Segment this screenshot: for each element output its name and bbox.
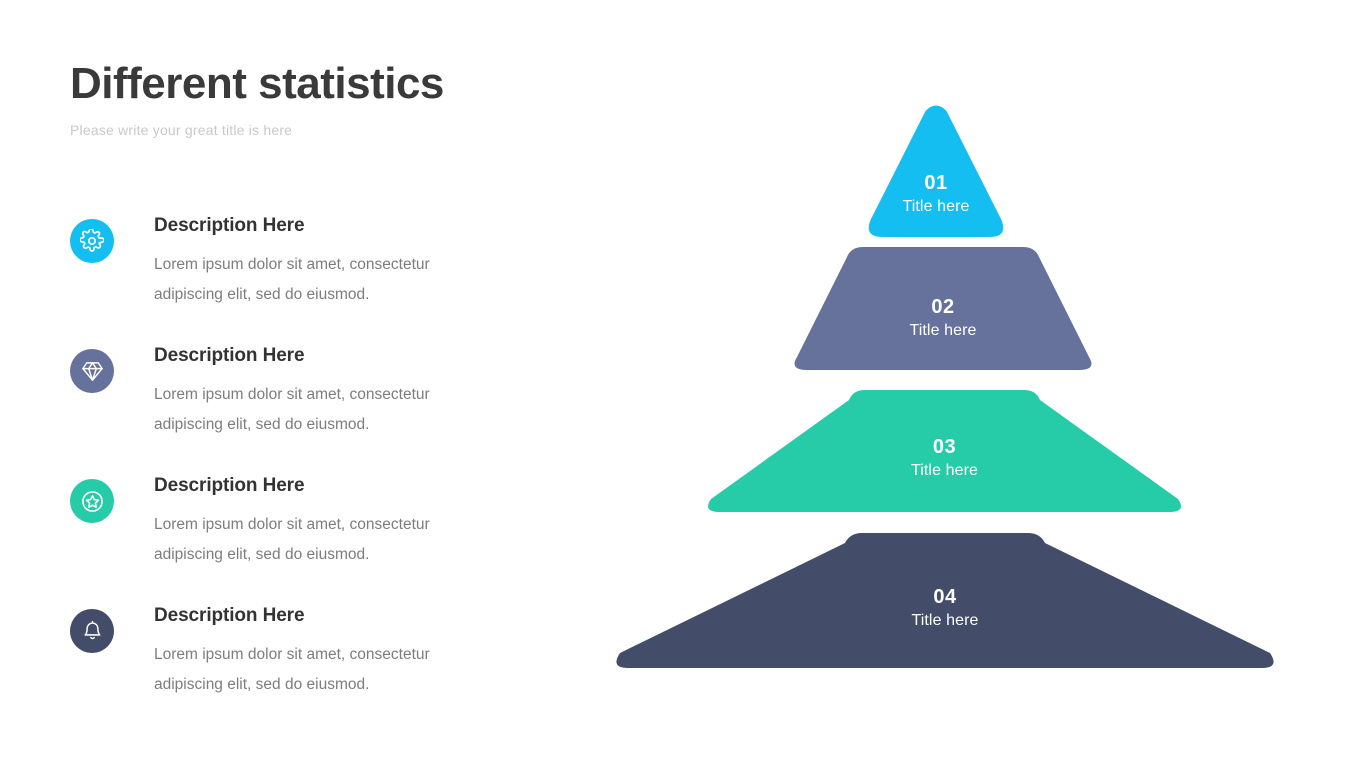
pyramid-tier-3-number: 03 bbox=[697, 435, 1192, 459]
pyramid-tier-3[interactable]: 03 Title here bbox=[697, 390, 1192, 512]
pyramid-tier-3-label: 03 Title here bbox=[697, 435, 1192, 483]
gear-icon-badge[interactable] bbox=[70, 219, 114, 263]
pyramid-tier-4-label: 04 Title here bbox=[604, 585, 1286, 633]
feature-heading: Description Here bbox=[154, 345, 499, 368]
pyramid-tier-4-title: Title here bbox=[604, 609, 1286, 633]
pyramid-tier-2-label: 02 Title here bbox=[783, 295, 1103, 343]
feature-text-3: Description Here Lorem ipsum dolor sit a… bbox=[154, 475, 499, 570]
feature-text-2: Description Here Lorem ipsum dolor sit a… bbox=[154, 345, 499, 440]
pyramid-chart: 01 Title here 02 Title here bbox=[590, 90, 1300, 690]
feature-body: Lorem ipsum dolor sit amet, consectetur … bbox=[154, 640, 499, 700]
star-circle-icon-badge[interactable] bbox=[70, 479, 114, 523]
page-title: Different statistics bbox=[70, 60, 590, 108]
bell-icon bbox=[81, 620, 104, 643]
slide-canvas: Different statistics Please write your g… bbox=[0, 0, 1365, 768]
star-circle-icon bbox=[80, 489, 105, 514]
feature-body: Lorem ipsum dolor sit amet, consectetur … bbox=[154, 380, 499, 440]
feature-body: Lorem ipsum dolor sit amet, consectetur … bbox=[154, 510, 499, 570]
feature-body: Lorem ipsum dolor sit amet, consectetur … bbox=[154, 250, 499, 310]
feature-heading: Description Here bbox=[154, 215, 499, 238]
pyramid-tier-4[interactable]: 04 Title here bbox=[604, 533, 1286, 668]
feature-item-2[interactable]: Description Here Lorem ipsum dolor sit a… bbox=[70, 345, 590, 475]
feature-heading: Description Here bbox=[154, 475, 499, 498]
pyramid-tier-2-number: 02 bbox=[783, 295, 1103, 319]
gear-icon bbox=[80, 229, 104, 253]
pyramid-tier-1[interactable]: 01 Title here bbox=[863, 102, 1009, 237]
diamond-icon bbox=[81, 360, 104, 383]
pyramid-tier-1-label: 01 Title here bbox=[863, 171, 1009, 219]
feature-item-3[interactable]: Description Here Lorem ipsum dolor sit a… bbox=[70, 475, 590, 605]
page-subtitle: Please write your great title is here bbox=[70, 122, 590, 138]
pyramid-tier-1-title: Title here bbox=[863, 195, 1009, 219]
feature-text-4: Description Here Lorem ipsum dolor sit a… bbox=[154, 605, 499, 700]
pyramid-tier-1-number: 01 bbox=[863, 171, 1009, 195]
header-block: Different statistics Please write your g… bbox=[70, 60, 590, 138]
feature-item-4[interactable]: Description Here Lorem ipsum dolor sit a… bbox=[70, 605, 590, 735]
pyramid-tier-2-title: Title here bbox=[783, 319, 1103, 343]
feature-item-1[interactable]: Description Here Lorem ipsum dolor sit a… bbox=[70, 215, 590, 345]
pyramid-tier-3-title: Title here bbox=[697, 459, 1192, 483]
pyramid-tier-4-number: 04 bbox=[604, 585, 1286, 609]
bell-icon-badge[interactable] bbox=[70, 609, 114, 653]
diamond-icon-badge[interactable] bbox=[70, 349, 114, 393]
feature-heading: Description Here bbox=[154, 605, 499, 628]
feature-text-1: Description Here Lorem ipsum dolor sit a… bbox=[154, 215, 499, 310]
feature-list: Description Here Lorem ipsum dolor sit a… bbox=[70, 215, 590, 735]
pyramid-tier-2[interactable]: 02 Title here bbox=[783, 247, 1103, 370]
